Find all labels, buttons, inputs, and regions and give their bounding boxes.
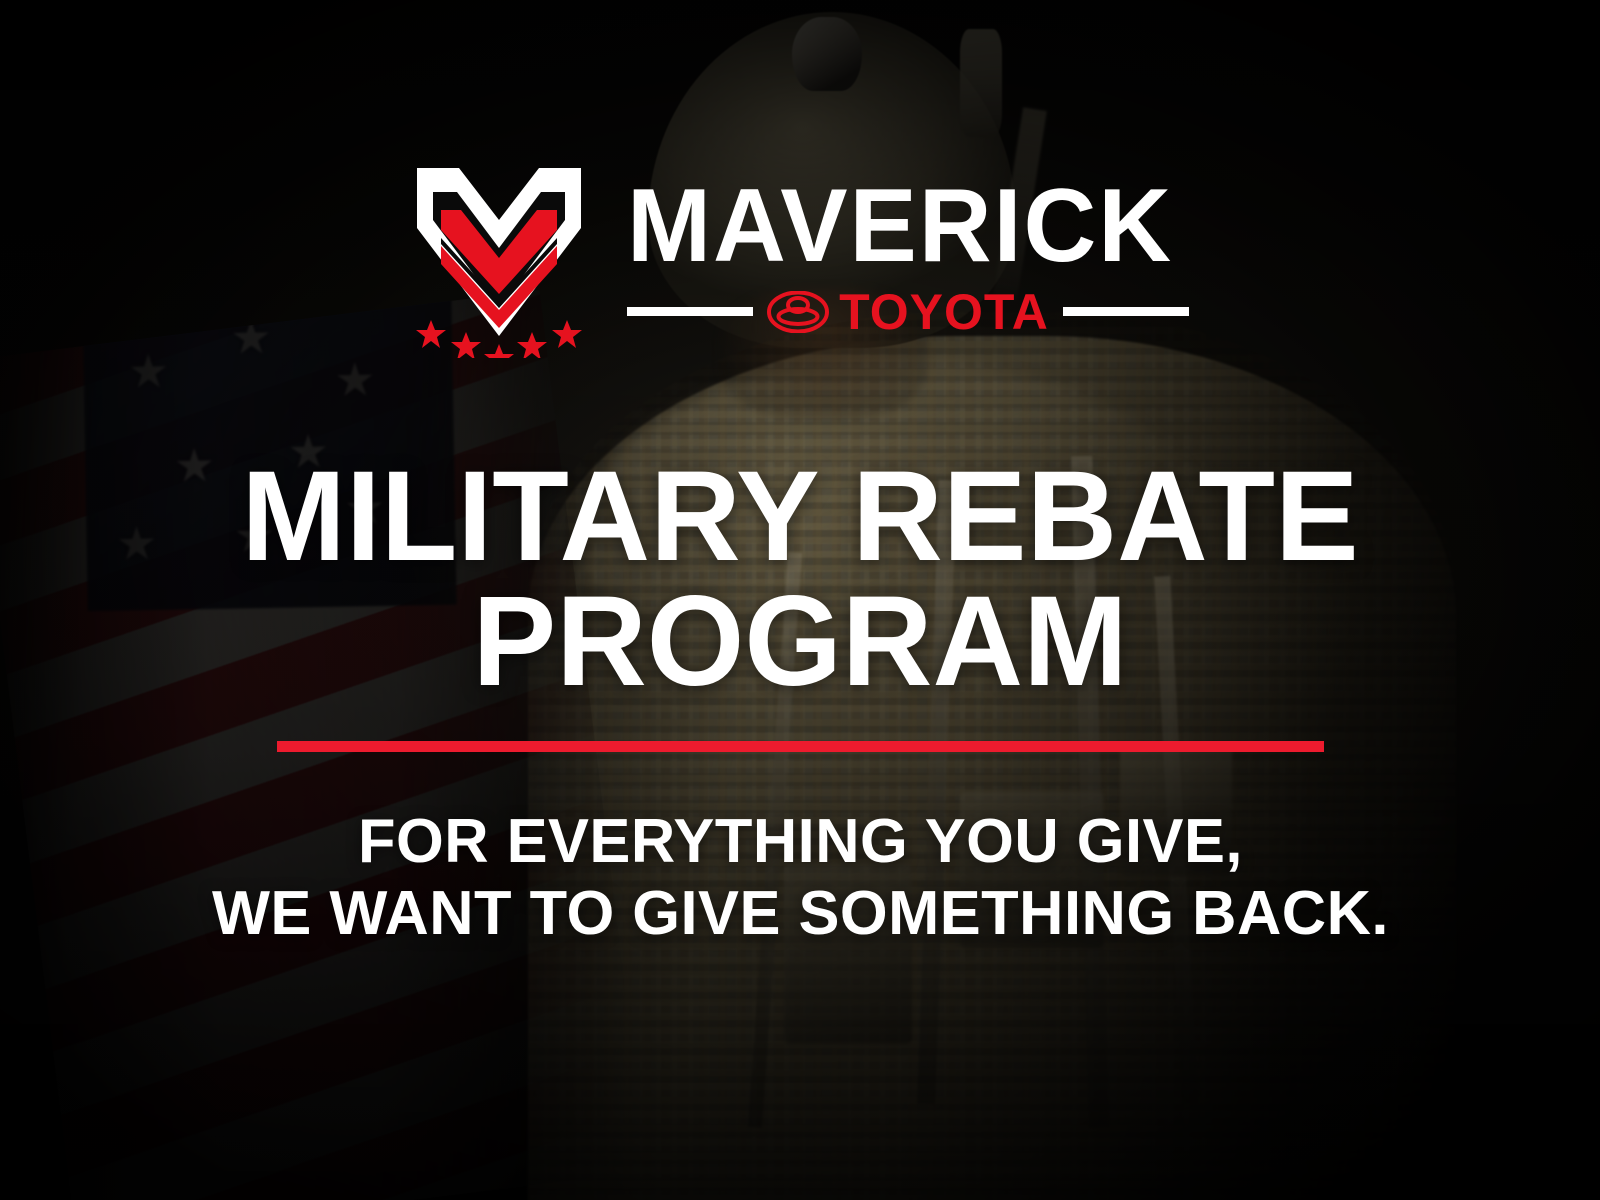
logo-rule-right bbox=[1063, 307, 1190, 316]
tagline-line-1: FOR EVERYTHING YOU GIVE, bbox=[211, 806, 1388, 878]
headline-line-1: MILITARY REBATE bbox=[241, 454, 1358, 579]
tagline-line-2: WE WANT TO GIVE SOMETHING BACK. bbox=[211, 878, 1388, 950]
maverick-chevron-emblem bbox=[411, 158, 587, 358]
red-divider bbox=[277, 741, 1324, 752]
toyota-sub-brand-row: TOYOTA bbox=[627, 287, 1190, 337]
tagline: FOR EVERYTHING YOU GIVE, WE WANT TO GIVE… bbox=[211, 806, 1388, 950]
maverick-toyota-logo: MAVERICK TOYOTA bbox=[411, 158, 1190, 358]
toyota-wordmark: TOYOTA bbox=[839, 287, 1049, 337]
headline: MILITARY REBATE PROGRAM bbox=[241, 454, 1358, 705]
headline-line-2: PROGRAM bbox=[241, 579, 1358, 704]
military-rebate-poster: ★ ★ ★ ★ ★ ★ ★ ★ bbox=[0, 0, 1600, 1200]
logo-rule-left bbox=[627, 307, 754, 316]
toyota-mark: TOYOTA bbox=[767, 287, 1049, 337]
brand-name: MAVERICK bbox=[627, 179, 1173, 275]
brand-wordmark-block: MAVERICK TOYOTA bbox=[627, 179, 1190, 337]
poster-content: MAVERICK TOYOTA MILITARY bbox=[0, 0, 1600, 1200]
toyota-logo-icon bbox=[767, 291, 829, 333]
